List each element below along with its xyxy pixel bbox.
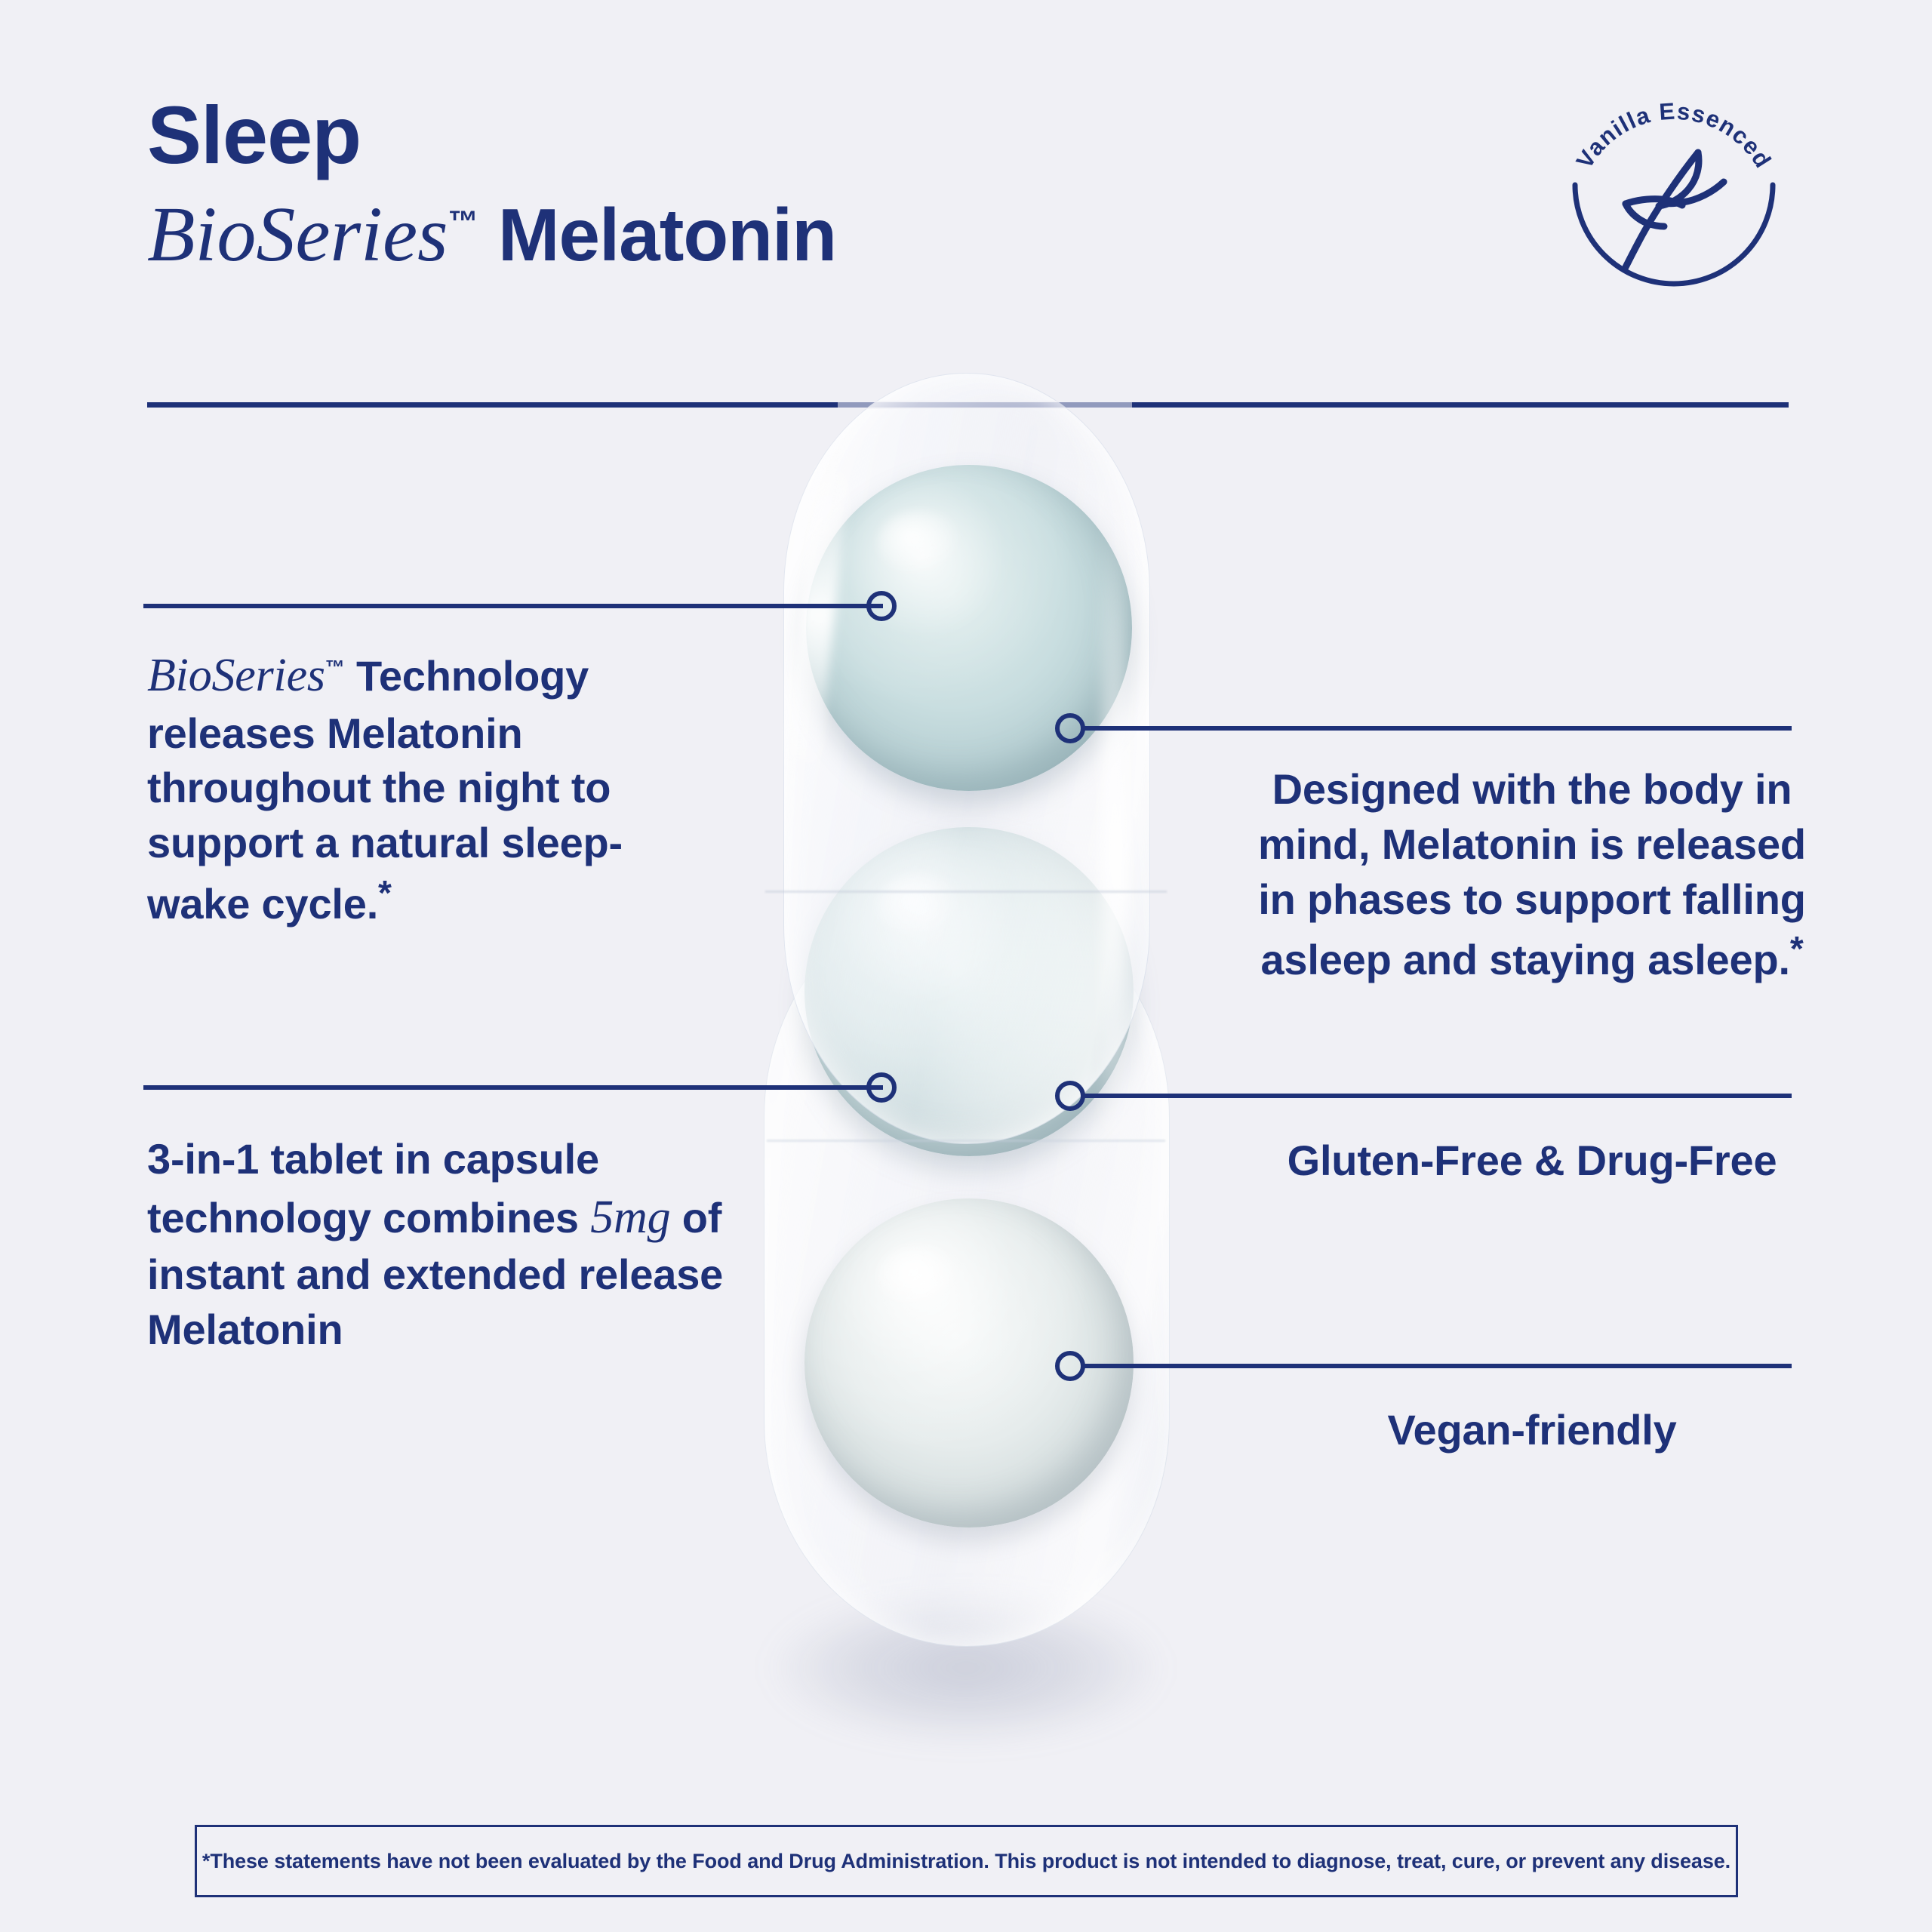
callout-line-right-bottom bbox=[1084, 1364, 1792, 1368]
page-title: Sleep BioSeries™ Melatonin bbox=[147, 94, 836, 274]
dose-value: 5mg bbox=[590, 1192, 670, 1243]
brand-name-bioseries: BioSeries bbox=[147, 191, 448, 278]
callout-line-left-top bbox=[143, 604, 883, 608]
product-name-melatonin: Melatonin bbox=[478, 193, 837, 276]
tablet-top bbox=[806, 465, 1132, 791]
callout-text-designed-with-body: Designed with the body in mind, Melatoni… bbox=[1238, 762, 1826, 988]
footnote-marker: * bbox=[378, 873, 392, 912]
badge-text: Vanilla Essenced bbox=[1571, 98, 1777, 174]
callout-line-right-top bbox=[1084, 726, 1792, 731]
tablet-highlight bbox=[878, 510, 962, 575]
callout-text-gluten-drug-free: Gluten-Free & Drug-Free bbox=[1238, 1136, 1826, 1185]
title-line-sleep: Sleep bbox=[147, 94, 836, 176]
callout-ring-right-mid bbox=[1055, 1081, 1085, 1111]
callout-line-right-mid bbox=[1084, 1094, 1792, 1098]
capsule-gloss-right bbox=[1102, 506, 1128, 1185]
footnote-disclaimer-text: *These statements have not been evaluate… bbox=[202, 1850, 1730, 1873]
capsule-seam-lower bbox=[767, 1140, 1165, 1142]
callout-ring-left-top bbox=[866, 591, 897, 621]
callout-ring-right-top bbox=[1055, 713, 1085, 743]
product-capsule-image bbox=[747, 362, 1185, 1743]
divider-capsule-overlap bbox=[838, 401, 1132, 409]
footnote-marker: * bbox=[1790, 929, 1804, 968]
callout-text-bioseries-technology: BioSeries™ Technology releases Melatonin… bbox=[147, 645, 645, 932]
vanilla-flower-icon bbox=[1626, 152, 1724, 267]
title-line-product: BioSeries™ Melatonin bbox=[147, 195, 836, 274]
brand-name-bioseries-inline: BioSeries bbox=[147, 650, 325, 701]
callout-text-vegan-friendly: Vegan-friendly bbox=[1238, 1405, 1826, 1454]
callout-ring-right-bottom bbox=[1055, 1351, 1085, 1381]
callout-body-text: Designed with the body in mind, Melatoni… bbox=[1258, 765, 1806, 983]
trademark-symbol: ™ bbox=[448, 205, 478, 238]
callout-text-three-in-one: 3-in-1 tablet in capsule technology comb… bbox=[147, 1132, 743, 1358]
callout-body-pre: 3-in-1 tablet in capsule technology comb… bbox=[147, 1135, 599, 1241]
callout-ring-left-bottom bbox=[866, 1072, 897, 1103]
tablet-highlight bbox=[877, 1244, 962, 1310]
vanilla-essenced-badge: Vanilla Essenced bbox=[1549, 72, 1798, 321]
callout-line-left-bottom bbox=[143, 1085, 883, 1090]
infographic-canvas: Sleep BioSeries™ Melatonin Vanilla Essen… bbox=[0, 0, 1932, 1932]
capsule-seam-upper bbox=[765, 891, 1167, 893]
trademark-symbol-inline: ™ bbox=[325, 656, 345, 678]
footnote-disclaimer-box: *These statements have not been evaluate… bbox=[195, 1825, 1738, 1897]
